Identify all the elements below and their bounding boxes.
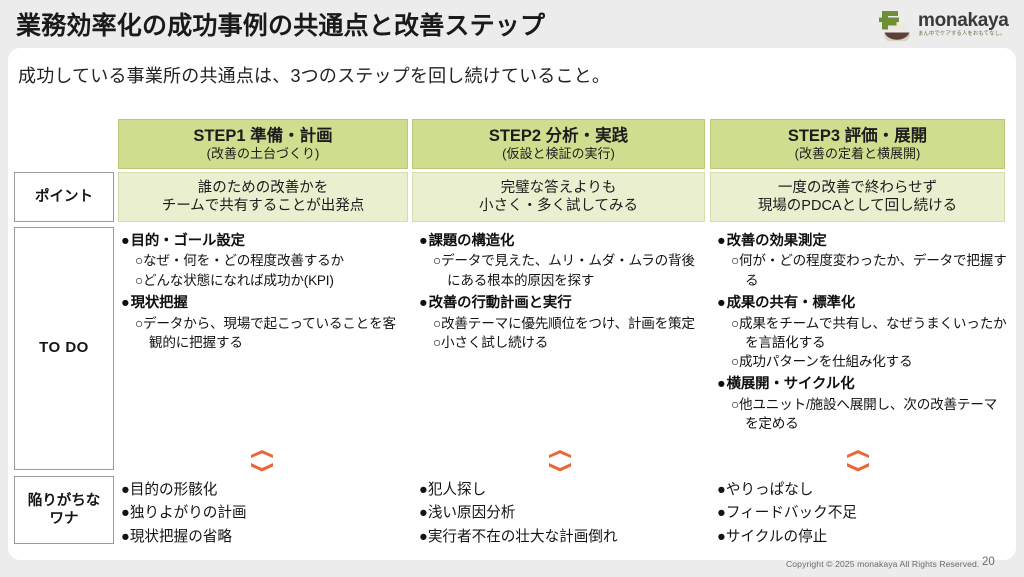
trap-item: ●フィードバック不足 [717,502,1007,525]
filled-bullet-icon: ● [717,529,726,545]
point-cell-line2: チームで共有することが出発点 [162,197,365,215]
filled-bullet-icon: ● [717,233,726,249]
todo-item-text: 小さく試し続ける [441,335,548,350]
trap-item: ●現状把握の省略 [121,526,409,549]
row-label-trap-line2: ワナ [50,510,79,528]
todo-item-text: 成功パターンを仕組み化する [739,354,912,369]
todo-item-text: なぜ・何を・どの程度改善するか [143,253,344,268]
trap-item-text: 実行者不在の壮大な計画倒れ [428,529,618,545]
point-cell-line1: 誰のための改善かを [198,179,329,197]
column-header-subtitle: (仮設と検証の実行) [502,146,615,161]
trap-item-text: 現状把握の省略 [130,529,232,545]
todo-group-heading-text: 目的・ゴール設定 [131,233,245,249]
trap-item-text: 浅い原因分析 [428,505,516,521]
todo-column-step2: ●課題の構造化○データで見えた、ムリ・ムダ・ムラの背後にある根本的原因を探す●改… [419,231,707,352]
filled-bullet-icon: ● [419,295,428,311]
trap-item: ●目的の形骸化 [121,479,409,502]
row-label-todo: TO DO [14,227,114,470]
filled-bullet-icon: ● [121,529,130,545]
slide-canvas: 業務効率化の成功事例の共通点と改善ステップ monakaya まん中でケアする人… [0,0,1024,577]
todo-group-heading-text: 改善の効果測定 [727,233,827,249]
todo-group-heading-text: 改善の行動計画と実行 [429,295,572,311]
trap-item-text: 犯人探し [428,482,486,498]
double-chevron-down-icon-step1 [249,450,275,472]
column-header-step3: STEP3 評価・展開 (改善の定着と横展開) [710,119,1005,169]
todo-item: ○小さく試し続ける [419,333,707,352]
row-label-point: ポイント [14,172,114,222]
row-label-todo-text: TO DO [39,339,89,358]
todo-group-heading: ●改善の効果測定 [717,231,1007,251]
todo-item-text: 成果をチームで共有し、なぜうまくいったかを言語化する [739,316,1006,350]
todo-group-heading: ●目的・ゴール設定 [121,231,409,251]
hollow-bullet-icon: ○ [135,316,143,331]
todo-item-text: 何が・どの程度変わったか、データで把握する [739,253,1007,287]
trap-item: ●やりっぱなし [717,479,1007,502]
todo-group-heading: ●現状把握 [121,293,409,313]
column-header-title: STEP3 評価・展開 [788,127,927,146]
hollow-bullet-icon: ○ [433,253,441,268]
filled-bullet-icon: ● [419,529,428,545]
trap-column-step2: ●犯人探し●浅い原因分析●実行者不在の壮大な計画倒れ [419,479,707,549]
hollow-bullet-icon: ○ [135,273,143,288]
filled-bullet-icon: ● [419,233,428,249]
trap-item: ●サイクルの停止 [717,526,1007,549]
hollow-bullet-icon: ○ [731,397,739,412]
todo-item-text: データで見えた、ムリ・ムダ・ムラの背後にある根本的原因を探す [441,253,695,287]
column-header-subtitle: (改善の土台づくり) [207,146,320,161]
footer-copyright: Copyright © 2025 monakaya All Rights Res… [786,559,979,569]
todo-group-heading-text: 成果の共有・標準化 [727,295,856,311]
column-header-title: STEP2 分析・実践 [489,127,628,146]
todo-item: ○なぜ・何を・どの程度改善するか [121,251,409,270]
todo-group-heading-text: 現状把握 [131,295,188,311]
trap-item: ●実行者不在の壮大な計画倒れ [419,526,707,549]
row-label-trap-line1: 陥りがちな [28,492,101,510]
filled-bullet-icon: ● [717,505,726,521]
hollow-bullet-icon: ○ [731,316,739,331]
point-cell-line2: 現場のPDCAとして回し続ける [758,197,957,215]
filled-bullet-icon: ● [121,482,130,498]
todo-column-step3: ●改善の効果測定○何が・どの程度変わったか、データで把握する●成果の共有・標準化… [717,231,1007,433]
filled-bullet-icon: ● [717,295,726,311]
filled-bullet-icon: ● [121,505,130,521]
todo-item: ○他ユニット/施設へ展開し、次の改善テーマを定める [717,395,1007,434]
filled-bullet-icon: ● [419,482,428,498]
point-cell-step1: 誰のための改善かを チームで共有することが出発点 [118,172,408,222]
double-chevron-down-icon-step2 [547,450,573,472]
todo-group-heading-text: 課題の構造化 [429,233,515,249]
todo-item-text: データから、現場で起こっていることを客観的に把握する [143,316,396,350]
todo-item: ○データから、現場で起こっていることを客観的に把握する [121,314,409,353]
todo-item: ○成功パターンを仕組み化する [717,352,1007,371]
column-header-step1: STEP1 準備・計画 (改善の土台づくり) [118,119,408,169]
trap-item-text: フィードバック不足 [726,505,857,521]
filled-bullet-icon: ● [717,376,726,392]
trap-column-step3: ●やりっぱなし●フィードバック不足●サイクルの停止 [717,479,1007,549]
todo-group-heading: ●改善の行動計画と実行 [419,293,707,313]
column-header-subtitle: (改善の定着と横展開) [795,146,921,161]
trap-item: ●独りよがりの計画 [121,502,409,525]
todo-group-heading: ●課題の構造化 [419,231,707,251]
trap-item-text: 目的の形骸化 [130,482,218,498]
filled-bullet-icon: ● [419,505,428,521]
trap-item-text: やりっぱなし [726,482,814,498]
column-header-title: STEP1 準備・計画 [193,127,332,146]
trap-column-step1: ●目的の形骸化●独りよがりの計画●現状把握の省略 [121,479,409,549]
filled-bullet-icon: ● [121,233,130,249]
todo-item-text: 改善テーマに優先順位をつけ、計画を策定 [441,316,695,331]
todo-item-text: どんな状態になれば成功か(KPI) [143,273,334,288]
todo-group-heading: ●成果の共有・標準化 [717,293,1007,313]
todo-item-text: 他ユニット/施設へ展開し、次の改善テーマを定める [739,397,997,431]
steps-matrix: STEP1 準備・計画 (改善の土台づくり) STEP2 分析・実践 (仮設と検… [0,0,1024,577]
row-label-point-text: ポイント [35,188,93,206]
todo-item: ○データで見えた、ムリ・ムダ・ムラの背後にある根本的原因を探す [419,251,707,290]
trap-item: ●犯人探し [419,479,707,502]
filled-bullet-icon: ● [717,482,726,498]
hollow-bullet-icon: ○ [731,253,739,268]
hollow-bullet-icon: ○ [433,335,441,350]
todo-item: ○成果をチームで共有し、なぜうまくいったかを言語化する [717,314,1007,353]
double-chevron-down-icon-step3 [845,450,871,472]
todo-group-heading: ●横展開・サイクル化 [717,374,1007,394]
footer-page-number: 20 [982,556,995,568]
todo-column-step1: ●目的・ゴール設定○なぜ・何を・どの程度改善するか○どんな状態になれば成功か(K… [121,231,409,352]
point-cell-line1: 完璧な答えよりも [501,179,617,197]
point-cell-step2: 完璧な答えよりも 小さく・多く試してみる [412,172,705,222]
todo-item: ○改善テーマに優先順位をつけ、計画を策定 [419,314,707,333]
hollow-bullet-icon: ○ [731,354,739,369]
filled-bullet-icon: ● [121,295,130,311]
point-cell-line1: 一度の改善で終わらせず [778,179,937,197]
trap-item-text: 独りよがりの計画 [130,505,247,521]
point-cell-step3: 一度の改善で終わらせず 現場のPDCAとして回し続ける [710,172,1005,222]
row-label-trap: 陥りがちな ワナ [14,476,114,544]
hollow-bullet-icon: ○ [433,316,441,331]
point-cell-line2: 小さく・多く試してみる [479,197,638,215]
todo-item: ○どんな状態になれば成功か(KPI) [121,271,409,290]
column-header-step2: STEP2 分析・実践 (仮設と検証の実行) [412,119,705,169]
trap-item: ●浅い原因分析 [419,502,707,525]
hollow-bullet-icon: ○ [135,253,143,268]
todo-group-heading-text: 横展開・サイクル化 [727,376,855,392]
trap-item-text: サイクルの停止 [726,529,827,545]
todo-item: ○何が・どの程度変わったか、データで把握する [717,251,1007,290]
